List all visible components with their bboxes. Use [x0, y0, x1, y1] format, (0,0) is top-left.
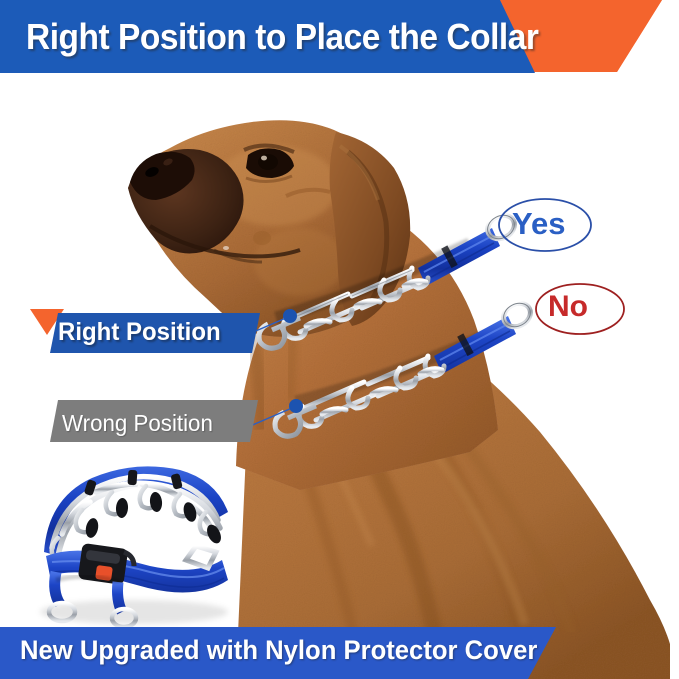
bottom-banner-title: New Upgraded with Nylon Protector Cover: [20, 635, 537, 666]
yes-badge-label: Yes: [512, 206, 565, 242]
no-badge-label: No: [548, 290, 588, 324]
wrong-position-label: Wrong Position: [62, 410, 213, 437]
right-position-label: Right Position: [58, 318, 221, 347]
top-banner: Right Position to Place the Collar: [0, 0, 679, 80]
wrong-position-marker: [289, 399, 303, 413]
infographic-canvas: Right Position to Place the Collar Right…: [0, 0, 679, 679]
right-position-marker: [283, 309, 297, 323]
top-banner-title: Right Position to Place the Collar: [26, 16, 603, 58]
